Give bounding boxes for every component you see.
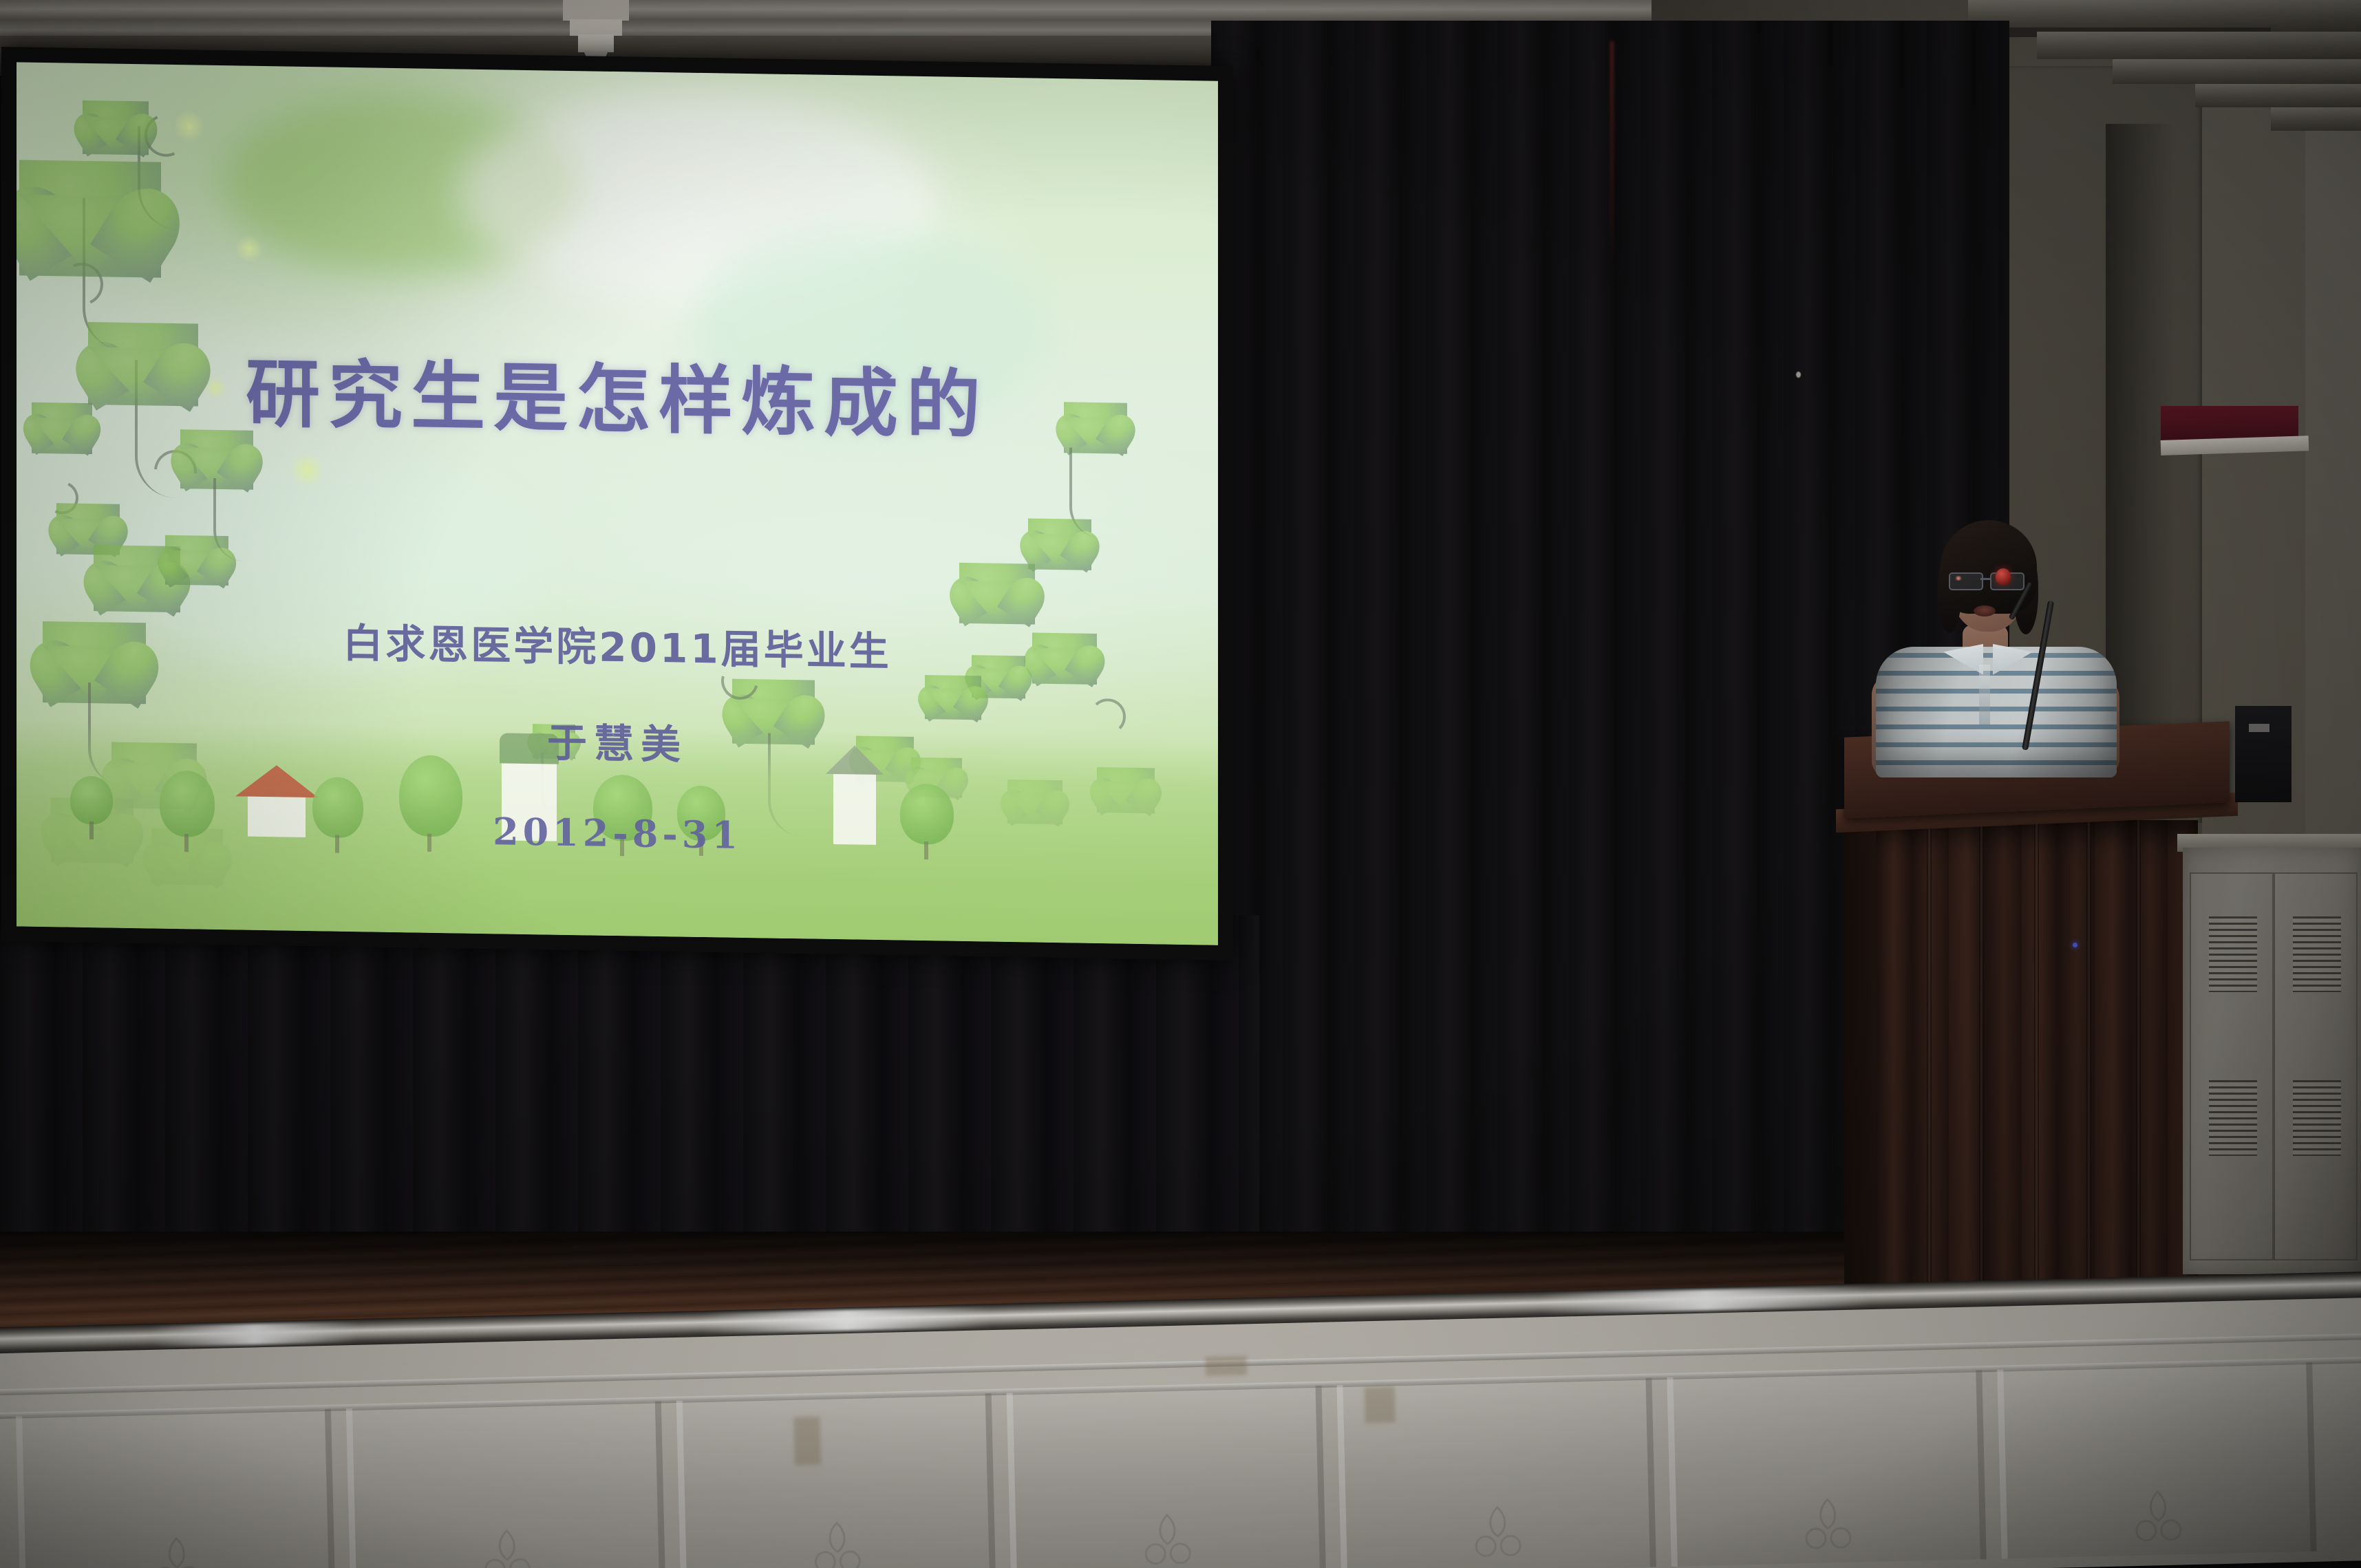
auditorium-photo: 研究生是怎样炼成的 白求恩医学院2011届毕业生 于慧美 2012-8-31 <box>0 0 2361 1568</box>
cornice-step-4 <box>2195 84 2361 107</box>
leaf-icon <box>959 563 1035 625</box>
leaf-icon <box>1028 518 1091 570</box>
equipment-box-label <box>2249 724 2269 732</box>
slide-glow-dot <box>289 452 325 488</box>
apron-scuff <box>1205 1355 1247 1375</box>
apron-panel <box>346 1401 665 1568</box>
apron-scuff <box>793 1417 821 1465</box>
microphone-icon <box>1996 568 2011 585</box>
leaf-icon <box>165 535 228 586</box>
apron-panel <box>16 1409 335 1568</box>
black-equipment-box <box>2235 706 2291 802</box>
cabinet-louver <box>2209 916 2257 992</box>
podium-flute <box>1927 820 1932 1307</box>
cornice-step-3 <box>2113 59 2361 84</box>
podium-flute <box>2136 820 2141 1307</box>
slide-title: 研究生是怎样炼成的 <box>17 330 1218 456</box>
podium-indicator-light <box>2073 943 2077 947</box>
apron-scuff <box>1365 1386 1396 1423</box>
apron-motif-icon <box>135 1532 219 1568</box>
stage-curtain-lower <box>0 915 1259 1259</box>
apron-motif-icon <box>1786 1493 1870 1557</box>
curtain-light-streak <box>1610 41 1614 268</box>
apron-panel <box>1667 1370 1986 1567</box>
speaker-shirt-placket <box>1979 665 1990 725</box>
leaf-icon <box>925 675 981 720</box>
projection-screen-frame: 研究生是怎样炼成的 白求恩医学院2011届毕业生 于慧美 2012-8-31 <box>1 47 1233 960</box>
apron-panel <box>1007 1386 1326 1568</box>
apron-motif-icon <box>795 1516 879 1568</box>
apron-motif-icon <box>1126 1509 1210 1568</box>
podium-left-shadow <box>1844 819 1880 1307</box>
cabinet-door-left[interactable] <box>2190 872 2274 1260</box>
podium-flute <box>2086 820 2091 1307</box>
curtain-light-speck <box>1796 372 1801 378</box>
slide-subtitle: 白求恩医学院2011届毕业生 <box>17 605 1218 682</box>
eyeglasses-icon <box>1949 572 2030 588</box>
cornice-step-2 <box>2037 32 2361 59</box>
apron-panel <box>676 1393 996 1568</box>
cabinet-door-right[interactable] <box>2274 872 2358 1260</box>
projection-screen: 研究生是怎样炼成的 白求恩医学院2011届毕业生 于慧美 2012-8-31 <box>17 62 1218 945</box>
electrical-cabinet <box>2183 848 2361 1274</box>
leaf-icon <box>19 160 161 277</box>
slide-glow-dot <box>235 235 263 263</box>
podium-flute <box>2034 820 2039 1307</box>
cornice-step-5 <box>2271 107 2361 131</box>
speaker-person <box>1872 509 2119 771</box>
podium-flute <box>1979 820 1984 1307</box>
cabinet-louver <box>2293 1080 2341 1156</box>
apron-motif-icon <box>465 1524 549 1568</box>
apron-panel <box>1997 1362 2316 1559</box>
leaf-icon <box>83 100 149 155</box>
cabinet-louver <box>2293 916 2341 992</box>
apron-motif-icon <box>2116 1485 2200 1549</box>
speaker-mouth <box>1974 605 1996 616</box>
wall-panel-right <box>2305 48 2361 943</box>
podium <box>1844 729 2230 1307</box>
cabinet-louver <box>2209 1080 2257 1156</box>
apron-motif-icon <box>1456 1501 1540 1565</box>
